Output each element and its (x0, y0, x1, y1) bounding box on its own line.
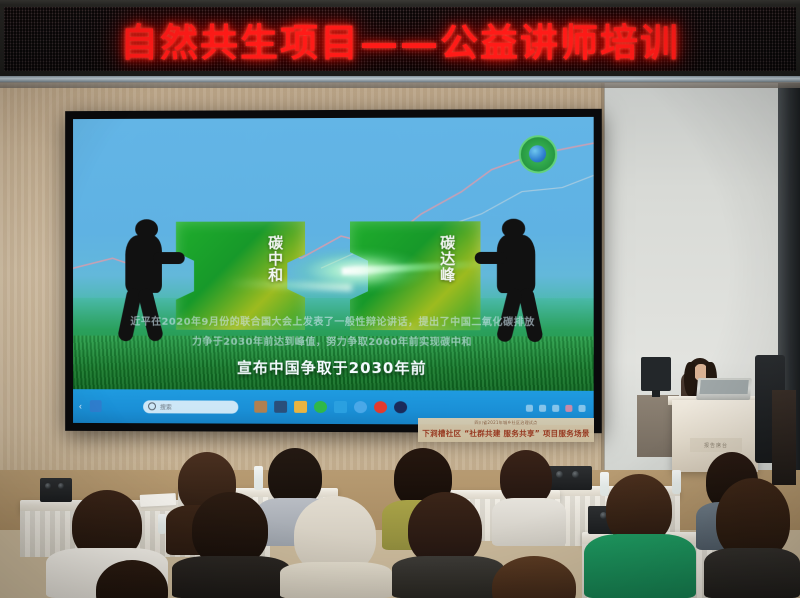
ceiling-rail-shadow (0, 82, 800, 88)
podium-laptop (696, 378, 752, 400)
speaker-hair-left (684, 362, 695, 396)
monitor-stand (652, 390, 660, 397)
slide-body-line-1: 近平在2020年9月份的联合国大会上发表了一般性辩论讲话，提出了中国二氧化碳排放 (114, 312, 551, 328)
store-icon[interactable] (254, 401, 267, 413)
cloud-icon[interactable] (354, 401, 367, 413)
explorer-icon[interactable] (274, 401, 287, 413)
audience-body (280, 562, 392, 598)
video-icon[interactable] (374, 401, 387, 413)
audience-body (392, 556, 504, 598)
audience-body (584, 534, 696, 598)
projection-screen-frame: 碳中和 碳达峰 近平在2020年9月份的联合国大会上发表了一般性辩论讲话，提出了… (65, 109, 602, 433)
green-earth-recycling-logo (518, 135, 556, 173)
audience-head (192, 492, 268, 566)
puzzle-label-carbon-neutral: 碳中和 (267, 235, 283, 283)
conference-room-photo: 自然共生项目——公益讲师培训 碳中和 碳达峰 (0, 0, 800, 598)
magnifier-icon (148, 403, 156, 411)
side-banner: 四川省2021年城乡社区治理试点 下涧槽社区 “社群共建 服务共享” 项目服务场… (418, 418, 594, 442)
back-arrow-icon[interactable]: ‹ (79, 401, 82, 411)
av-speaker-box (40, 478, 72, 502)
led-panel: 自然共生项目——公益讲师培训 (4, 7, 796, 71)
audience-body (172, 556, 290, 598)
slide-body-line-2: 力争于2030年前达到峰值，努力争取2060年前实现碳中和 (114, 333, 551, 349)
taskbar-search-input[interactable]: 搜索 (143, 400, 238, 413)
led-banner-text: 自然共生项目——公益讲师培训 (4, 7, 796, 71)
audience-body (492, 498, 566, 546)
network-icon[interactable] (539, 404, 546, 411)
led-banner: 自然共生项目——公益讲师培训 (0, 0, 800, 80)
app-blue-icon[interactable] (334, 401, 347, 413)
folder-icon[interactable] (294, 401, 307, 413)
audience-head (408, 492, 482, 566)
audience-body (704, 548, 800, 598)
audience-head (492, 556, 576, 598)
puzzle-label-carbon-peak: 碳达峰 (439, 235, 455, 283)
side-banner-title: 下涧槽社区 “社群共建 服务共享” 项目服务场景 (418, 428, 594, 439)
volume-icon[interactable] (552, 404, 559, 411)
office-icon[interactable] (394, 401, 407, 413)
battery-icon[interactable] (578, 405, 585, 412)
stage-monitor (641, 357, 671, 391)
search-placeholder: 搜索 (160, 402, 172, 411)
side-banner-subtitle: 四川省2021年城乡社区治理试点 (418, 420, 594, 426)
water-bottle (158, 514, 166, 534)
input-method-icon[interactable] (565, 405, 572, 412)
projection-screen: 碳中和 碳达峰 近平在2020年9月份的联合国大会上发表了一般性辩论讲话，提出了… (73, 117, 594, 425)
document-paper (140, 493, 177, 507)
water-bottle (600, 472, 609, 496)
equipment-rack-secondary (772, 390, 796, 485)
water-bottle (254, 466, 263, 490)
chevron-up-icon[interactable] (526, 404, 533, 411)
system-tray[interactable] (526, 404, 586, 411)
taskbar-app-icons[interactable] (254, 401, 407, 414)
slide-caption: 宣布中国争取于2030年前 (73, 356, 594, 378)
globe-icon (529, 145, 546, 162)
av-speaker-box (546, 466, 592, 490)
presentation-slide: 碳中和 碳达峰 近平在2020年9月份的联合国大会上发表了一般性辩论讲话，提出了… (73, 117, 594, 391)
wechat-icon[interactable] (314, 401, 327, 413)
windows-start-icon[interactable] (90, 400, 102, 412)
podium-nameplate: 报告席台 (690, 438, 742, 452)
water-bottle (672, 470, 681, 494)
